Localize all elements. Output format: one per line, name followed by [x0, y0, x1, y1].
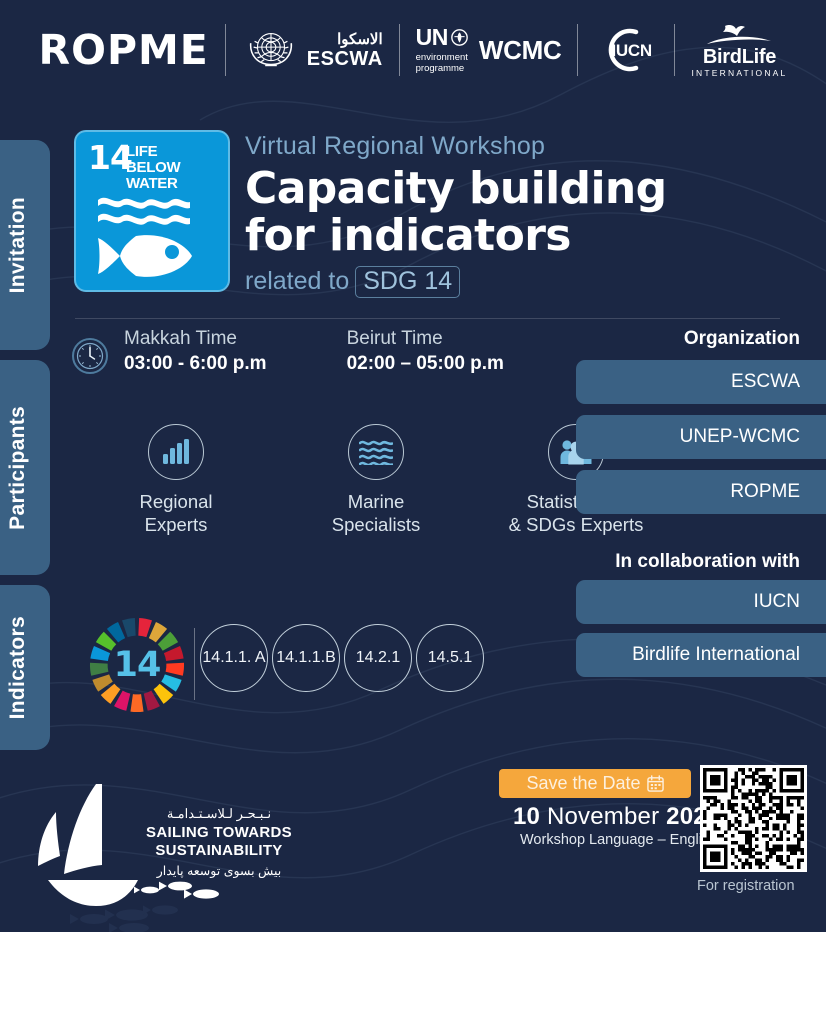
organization-item-escwa[interactable]: ESCWA: [576, 360, 826, 404]
collaboration-heading: In collaboration with: [550, 551, 800, 573]
save-the-date-label: Save the Date: [526, 773, 640, 794]
sidebar-tab-indicators[interactable]: Indicators: [0, 585, 50, 750]
indicator-code-14-2-1[interactable]: 14.2.1: [344, 624, 412, 692]
waves-icon: [359, 439, 393, 465]
participant-regional-experts: Regional Experts: [102, 424, 250, 536]
event-date-day: 10: [513, 803, 540, 830]
participant-line2: Experts: [145, 514, 208, 535]
logo-divider: [674, 24, 675, 76]
sidebar-tab-invitation[interactable]: Invitation: [0, 140, 50, 350]
qr-caption: For registration: [697, 878, 795, 894]
hero-related-value: SDG 14: [355, 266, 460, 299]
time-zone-beirut-label: Beirut Time: [347, 327, 504, 351]
logo-iucn: IUCN: [594, 24, 658, 76]
unep-globe-icon: [451, 29, 468, 46]
indicator-code-list: 14.1.1. A 14.1.1.B 14.2.1 14.5.1: [200, 624, 484, 692]
indicator-code-14-1-1-a[interactable]: 14.1.1. A: [200, 624, 268, 692]
save-the-date-button[interactable]: Save the Date: [499, 769, 691, 798]
participant-line1: Regional: [139, 491, 212, 512]
clock-icon: [70, 336, 110, 376]
sdg14-caption-line2: BELOW WATER: [126, 159, 180, 192]
section-divider: [75, 318, 780, 319]
hero-text-block: Virtual Regional Workshop Capacity build…: [245, 133, 675, 298]
hero-kicker: Virtual Regional Workshop: [245, 133, 675, 161]
sdg14-badge: 14 LIFE BELOW WATER: [74, 130, 230, 292]
organization-heading: Organization: [550, 328, 800, 350]
logo-divider: [577, 24, 578, 76]
unep-block: UN environment programme: [416, 26, 468, 74]
collaboration-item-iucn[interactable]: IUCN: [576, 580, 826, 624]
time-zone-makkah: Makkah Time 03:00 - 6:00 p.m: [124, 327, 267, 376]
hero-title-line2: for indicators: [245, 212, 675, 260]
participant-line2: & SDGs Experts: [509, 514, 644, 535]
sailing-english-line2: SUSTAINABILITY: [155, 842, 282, 859]
logo-ropme: ROPME: [39, 30, 209, 71]
sailing-farsi-bottom: بیش بسوی توسعه پایدار: [144, 863, 294, 878]
organization-item-ropme[interactable]: ROPME: [576, 470, 826, 514]
hero-related-row: related to SDG 14: [245, 266, 675, 299]
indicators-divider: [194, 628, 195, 700]
sdg14-caption-line1: LIFE: [126, 143, 157, 160]
sailing-sustainability-logo: نـبـحـر لـلاسـتـدامـة SAILING TOWARDS SU…: [34, 782, 284, 932]
logo-escwa: الاسكوا ESCWA: [242, 22, 383, 78]
participant-label: Marine Specialists: [302, 490, 450, 536]
logo-divider: [225, 24, 226, 76]
un-emblem-icon: [242, 22, 300, 78]
time-zone-beirut: Beirut Time 02:00 – 05:00 p.m: [347, 327, 504, 376]
birdlife-sublabel: INTERNATIONAL: [691, 69, 787, 78]
sdg-color-wheel-logo: 14: [88, 616, 186, 714]
collaboration-item-birdlife[interactable]: Birdlife International: [576, 633, 826, 677]
iucn-label: IUCN: [611, 41, 651, 61]
participant-label: Regional Experts: [102, 490, 250, 536]
footer-bar: www.ropme.org ROPME عـامـاً مـن الـرعـاي…: [0, 932, 826, 1024]
hero-title: Capacity building for indicators: [245, 165, 675, 260]
event-date-month: November: [540, 803, 666, 830]
organization-item-unep-wcmc[interactable]: UNEP-WCMC: [576, 415, 826, 459]
participant-line1: Marine: [348, 491, 405, 512]
time-zone-makkah-value: 03:00 - 6:00 p.m: [124, 352, 267, 376]
sailing-arabic-top: نـبـحـر لـلاسـتـدامـة: [144, 806, 294, 822]
sailing-english: SAILING TOWARDS SUSTAINABILITY: [144, 824, 294, 860]
escwa-label: ESCWA: [307, 49, 383, 69]
time-zone-beirut-value: 02:00 – 05:00 p.m: [347, 352, 504, 376]
event-date: 10 November 2025: [513, 803, 720, 831]
time-zone-list: Makkah Time 03:00 - 6:00 p.m Beirut Time…: [124, 327, 504, 376]
unep-line2: programme: [416, 63, 465, 74]
unep-line1: environment: [416, 52, 468, 63]
hero-title-line1: Capacity building: [245, 165, 675, 213]
sailing-english-line1: SAILING TOWARDS: [146, 824, 292, 841]
birdlife-label: BirdLife: [703, 47, 776, 67]
registration-qr-code[interactable]: [700, 765, 807, 872]
logo-unep-wcmc: UN environment programme WCMC: [416, 26, 562, 74]
unep-un-label: UN: [416, 26, 448, 49]
sdg14-caption: LIFE BELOW WATER: [126, 144, 228, 191]
time-zone-makkah-label: Makkah Time: [124, 327, 267, 351]
participant-icon-wrap: [348, 424, 404, 480]
indicator-code-14-5-1[interactable]: 14.5.1: [416, 624, 484, 692]
logo-divider: [399, 24, 400, 76]
participants-list: Regional Experts Mari: [102, 424, 650, 536]
sdg-wheel-number: 14: [88, 616, 186, 714]
bar-chart-icon: [162, 439, 190, 465]
poster-root: ROPME الاسكوا: [0, 0, 826, 1024]
participant-marine-specialists: Marine Specialists: [302, 424, 450, 536]
escwa-arabic-label: الاسكوا: [337, 32, 383, 47]
hero-related-label: related to: [245, 267, 349, 296]
sidebar-tab-participants-label: Participants: [6, 406, 30, 530]
qr-code-icon: [703, 768, 804, 869]
calendar-icon: [647, 775, 664, 792]
birdlife-bird-icon: [703, 23, 775, 47]
ropme-wordmark: ROPME: [39, 30, 209, 71]
header-logo-strip: ROPME الاسكوا: [0, 14, 826, 86]
sidebar-tab-participants[interactable]: Participants: [0, 360, 50, 575]
workshop-language-note: Workshop Language – English: [520, 832, 717, 848]
sdg14-fish-waves-icon: [92, 190, 216, 286]
sidebar-tab-invitation-label: Invitation: [6, 197, 30, 293]
participant-icon-wrap: [148, 424, 204, 480]
indicator-code-14-1-1-b[interactable]: 14.1.1.B: [272, 624, 340, 692]
wcmc-wordmark: WCMC: [479, 35, 562, 66]
sailing-text-block: نـبـحـر لـلاسـتـدامـة SAILING TOWARDS SU…: [144, 806, 294, 878]
participant-line2: Specialists: [332, 514, 420, 535]
logo-birdlife: BirdLife INTERNATIONAL: [691, 23, 787, 78]
poster-board: ROPME الاسكوا: [0, 0, 826, 932]
sidebar-tab-indicators-label: Indicators: [6, 616, 30, 719]
